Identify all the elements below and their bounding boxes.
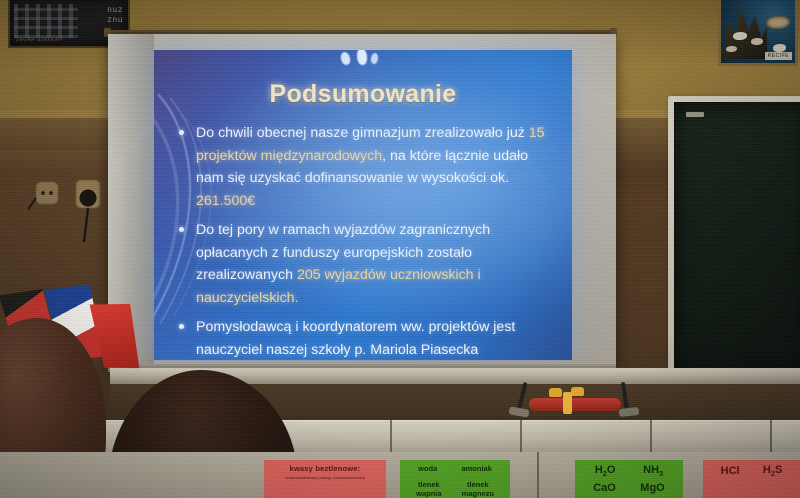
clamp-knob — [571, 387, 584, 396]
fish-icon — [733, 32, 747, 40]
card-h2o-nh3: H2ONH3CaOMgO — [575, 460, 683, 498]
slide-bullet-text: Do chwili obecnej nasze gimnazjum zreali… — [196, 125, 545, 209]
slide-plain-text: Do chwili obecnej nasze gimnazjum zreali… — [196, 125, 529, 141]
slide-title: Podsumowanie — [154, 80, 572, 109]
clamp-stem — [563, 392, 572, 414]
bullet-dot-icon — [179, 130, 184, 135]
fish-icon — [751, 38, 763, 45]
fish-icon — [766, 16, 790, 29]
card-row: wodaamoniak — [406, 464, 504, 473]
chem-formula: HCl — [721, 465, 740, 477]
bullet-dot-icon — [179, 227, 184, 232]
card-cell: woda — [418, 464, 437, 473]
card-woda-amoniak: wodaamoniaktlenek wapniatlenek magnezu — [400, 460, 510, 498]
slide-highlight-text: 261.500€ — [196, 193, 255, 209]
fish-icon — [726, 46, 737, 52]
card-title: kwasy beztlenowe: — [270, 464, 380, 473]
slide-bullet-text: Pomysłodawcą i koordynatorem ww. projekt… — [196, 319, 515, 358]
counter-tile-separator — [650, 420, 652, 454]
slide-bullet-3: Pomysłodawcą i koordynatorem ww. projekt… — [172, 316, 558, 360]
panel-grid-icon — [14, 4, 78, 38]
ripple-shape — [339, 51, 351, 66]
slide-plain-text: Pomysłodawcą i koordynatorem ww. projekt… — [196, 319, 515, 358]
panel-line-2: znu — [107, 16, 123, 26]
ripple-shape — [356, 50, 368, 65]
card-row: CaOMgO — [581, 482, 677, 494]
card-cell: tlenek magnezu — [452, 480, 504, 498]
power-outlet-group — [28, 168, 114, 246]
chem-formula: H2S — [763, 464, 782, 478]
projection-screen: Podsumowanie Do chwili obecnej nasze gim… — [108, 34, 616, 368]
clamp-knob — [549, 388, 562, 397]
card-hcl-h2s: HClH2S — [703, 460, 800, 498]
slide-bullet-1: Do chwili obecnej nasze gimnazjum zreali… — [172, 122, 558, 212]
chem-formula: MgO — [640, 482, 664, 494]
counter-tile-separator — [390, 420, 392, 454]
classroom-scene: nuz znu ZEGAR SZKOLNY RECIFE — [0, 0, 800, 498]
chem-formula: NH3 — [643, 464, 663, 478]
clamp-body — [529, 398, 621, 411]
slide-bullet-list: Do chwili obecnej nasze gimnazjum zreali… — [172, 122, 558, 360]
chalkboard — [668, 96, 800, 382]
card-kwasy: kwasy beztlenowe:chlorowodorowy (solny),… — [264, 460, 386, 498]
ripple-shape — [370, 53, 378, 65]
poster-tag: RECIFE — [765, 52, 792, 60]
panel-display-text: nuz znu — [107, 6, 123, 26]
chem-formula: CaO — [593, 482, 616, 494]
counter-tile-separator — [520, 420, 522, 454]
card-subtitle: chlorowodorowy (solny), siarkowodorowy — [270, 475, 380, 480]
chemistry-card-strip: kwasy beztlenowe:chlorowodorowy (solny),… — [0, 452, 800, 498]
card-row: HClH2S — [709, 464, 794, 478]
panel-line-1: nuz — [107, 6, 123, 16]
bullet-dot-icon — [179, 324, 184, 329]
lab-equipment-stand[interactable] — [505, 384, 645, 420]
chalkboard-clip — [686, 112, 704, 117]
stand-base — [619, 407, 640, 417]
card-cell: amoniak — [461, 464, 491, 473]
chalkboard-surface — [674, 102, 800, 372]
fish-icon — [773, 44, 786, 52]
slide-bullet-2: Do tej pory w ramach wyjazdów zagraniczn… — [172, 219, 558, 309]
card-cell: tlenek wapnia — [406, 480, 452, 498]
card-board-divider — [537, 452, 539, 498]
chem-formula: H2O — [595, 464, 616, 478]
counter-tile-separator — [770, 420, 772, 454]
slide-ripple-decoration — [335, 50, 391, 68]
projected-slide: Podsumowanie Do chwili obecnej nasze gim… — [154, 50, 572, 360]
aquarium-poster: RECIFE — [718, 0, 798, 66]
stand-base — [508, 406, 529, 417]
panel-caption: ZEGAR SZKOLNY — [16, 37, 63, 43]
slide-bullet-text: Do tej pory w ramach wyjazdów zagraniczn… — [196, 222, 490, 306]
card-row: H2ONH3 — [581, 464, 677, 478]
card-row: tlenek wapniatlenek magnezu — [406, 480, 504, 498]
